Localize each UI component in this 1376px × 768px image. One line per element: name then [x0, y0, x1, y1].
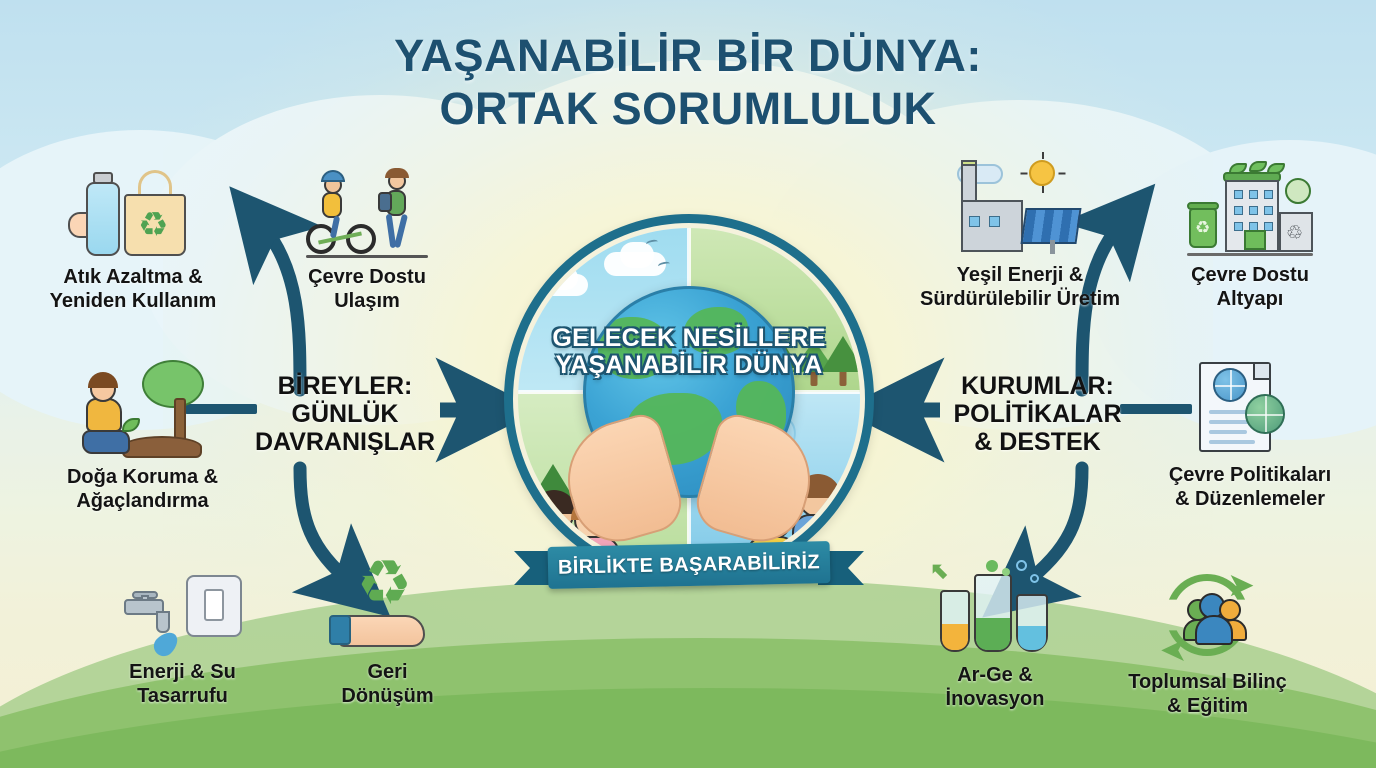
solar-panel-icon — [1020, 208, 1081, 244]
hand-left — [554, 410, 688, 553]
seedling-icon — [122, 418, 140, 432]
open-hand-icon — [339, 615, 425, 647]
hub-label-individuals: BİREYLER: GÜNLÜK DAVRANIŞLAR — [240, 372, 450, 456]
node-waste-reduction: ♻ Atık Azaltma & Yeniden Kullanım — [18, 150, 248, 313]
node-label: Doğa Koruma & Ağaçlandırma — [30, 466, 255, 513]
tap-spout — [156, 611, 170, 633]
arrow-icon: ➤ — [1229, 571, 1254, 601]
node-label: Ar-Ge & İnovasyon — [905, 664, 1085, 711]
node-label: Geri Dönüşüm — [300, 661, 475, 708]
central-emblem: GELECEK NESİLLERE YAŞANABİLİR DÜNYA BİRL… — [504, 214, 874, 584]
small-building-icon: ♲ — [1279, 212, 1313, 252]
green-building-icon: ♻ ♲ — [1150, 148, 1350, 258]
node-eco-transport: Çevre Dostu Ulaşım — [272, 150, 462, 313]
tree-planting-icon — [30, 350, 255, 460]
tap-and-light-switch-icon — [90, 545, 275, 655]
node-recycling: ♻ Geri Dönüşüm — [300, 545, 475, 708]
node-green-energy: Yeşil Enerji & Sürdürülebilir Üretim — [905, 148, 1135, 311]
node-label: Enerji & Su Tasarrufu — [90, 661, 275, 708]
person-legs — [82, 430, 130, 454]
cyclist-leg — [330, 216, 340, 239]
flask-icon — [940, 590, 970, 652]
water-bottle-icon — [86, 182, 120, 256]
emblem-main-text: GELECEK NESİLLERE YAŞANABİLİR DÜNYA — [504, 325, 874, 378]
node-label: Çevre Dostu Altyapı — [1150, 264, 1350, 311]
infographic-canvas: YAŞANABİLİR BİR DÜNYA: ORTAK SORUMLULUK — [0, 0, 1376, 768]
hub-label-institutions: KURUMLAR: POLİTİKALAR & DESTEK — [930, 372, 1145, 456]
emblem-banner: BİRLİKTE BAŞARABİLİRİZ — [514, 544, 864, 590]
hand-right — [690, 410, 824, 553]
node-public-awareness: ➤ ➤ Toplumsal Bilinç & Eğitim — [1100, 555, 1315, 718]
node-rd-innovation: ⬉ Ar-Ge & İnovasyon — [905, 548, 1085, 711]
soil-mound-icon — [122, 436, 202, 458]
bottle-and-tote-bag-icon: ♻ — [18, 150, 248, 260]
title-line-1: YAŞANABİLİR BİR DÜNYA: — [0, 32, 1376, 81]
flask-icon — [974, 574, 1012, 652]
cyclist-body-icon — [322, 192, 342, 218]
policy-document-icon — [1140, 348, 1360, 458]
flask-icon — [1016, 594, 1048, 652]
node-environmental-policies: Çevre Politikaları & Düzenlemeler — [1140, 348, 1360, 511]
page-title: YAŞANABİLİR BİR DÜNYA: ORTAK SORUMLULUK — [0, 32, 1376, 133]
bicycle-wheel-icon — [346, 224, 376, 254]
recycling-bin-icon: ♻ — [1189, 208, 1217, 248]
node-eco-infrastructure: ♻ ♲ Çevre Dostu Altyapı — [1150, 148, 1350, 311]
solar-panel-leg — [1050, 240, 1055, 254]
building-icon — [1225, 180, 1279, 252]
banner-text: BİRLİKTE BAŞARABİLİRİZ — [558, 551, 821, 579]
laboratory-flasks-icon: ⬉ — [905, 548, 1085, 658]
ground-line — [306, 255, 428, 258]
walker-hair — [385, 168, 409, 178]
node-label: Çevre Dostu Ulaşım — [272, 266, 462, 313]
factory-and-solar-panel-icon — [905, 148, 1135, 258]
walker-leg — [394, 214, 408, 248]
tree-crown-icon — [142, 360, 204, 408]
node-label: Yeşil Enerji & Sürdürülebilir Üretim — [905, 264, 1135, 311]
globe-icon — [1245, 394, 1285, 434]
people-cycle-icon: ➤ ➤ — [1100, 555, 1315, 665]
recycle-symbol-icon: ♻ — [357, 553, 413, 615]
globe-icon — [1213, 368, 1247, 402]
sleeve-cuff — [329, 615, 351, 645]
title-line-2: ORTAK SORUMLULUK — [0, 85, 1376, 134]
emblem-scene — [518, 228, 860, 570]
person-hair — [88, 372, 118, 388]
node-label: Atık Azaltma & Yeniden Kullanım — [18, 266, 248, 313]
node-energy-water-saving: Enerji & Su Tasarrufu — [90, 545, 275, 708]
factory-icon — [961, 200, 1023, 252]
tote-bag-icon: ♻ — [124, 194, 186, 256]
arrow-icon: ➤ — [1161, 635, 1186, 665]
cupped-hands-icon — [564, 420, 814, 540]
recycle-symbol-icon: ♻ — [138, 208, 168, 242]
node-label: Toplumsal Bilinç & Eğitim — [1100, 671, 1315, 718]
switch-rocker — [204, 589, 224, 621]
eco-badge-icon — [1285, 178, 1311, 204]
person-body — [86, 398, 122, 432]
arrow-icon: ⬉ — [930, 560, 948, 582]
node-nature-protection: Doğa Koruma & Ağaçlandırma — [30, 350, 255, 513]
water-drop-icon — [149, 628, 182, 661]
helmet-icon — [321, 170, 345, 182]
banner-body: BİRLİKTE BAŞARABİLİRİZ — [548, 541, 831, 589]
recycling-hand-icon: ♻ — [300, 545, 475, 655]
sun-icon — [1029, 160, 1055, 186]
backpack-icon — [378, 192, 392, 212]
cyclist-and-walker-icon — [272, 150, 462, 260]
node-label: Çevre Politikaları & Düzenlemeler — [1140, 464, 1360, 511]
